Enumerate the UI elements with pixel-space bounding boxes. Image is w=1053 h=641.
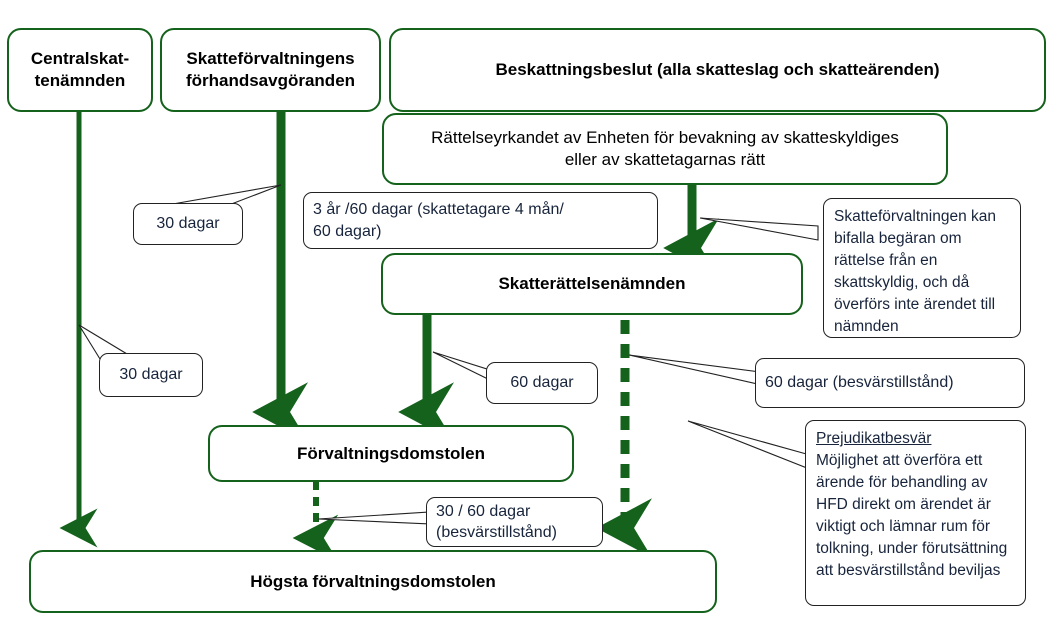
node-rattelseyrkandet[interactable]: Rättelseyrkandet av Enheten för bevaknin… (382, 113, 948, 185)
callout-prejudikatbesvar[interactable]: Prejudikatbesvär Möjlighet att överföra … (805, 420, 1026, 606)
callout-prejudikatbesvar-body: Möjlighet att överföra ett ärende för be… (816, 450, 1015, 582)
callout-dagar-3ar-60[interactable]: 3 år /60 dagar (skattetagare 4 mån/ 60 d… (303, 192, 658, 249)
node-forhandsavgoranden-label: Skatteförvaltningens förhandsavgöranden (186, 48, 355, 92)
callout-dagar-3ar-60-label: 3 år /60 dagar (skattetagare 4 mån/ 60 d… (313, 199, 564, 242)
node-beskattningsbeslut[interactable]: Beskattningsbeslut (alla skatteslag och … (389, 28, 1046, 112)
callout-dagar-30-top[interactable]: 30 dagar (133, 203, 243, 245)
node-beskattningsbeslut-label: Beskattningsbeslut (alla skatteslag och … (495, 59, 939, 81)
callout-dagar-60[interactable]: 60 dagar (486, 362, 598, 404)
callout-dagar-60-label: 60 dagar (510, 372, 573, 393)
diagram-canvas: Centralskat- tenämnden Skatteförvaltning… (0, 0, 1053, 641)
callout-dagar-30-60-besvarstillstand[interactable]: 30 / 60 dagar (besvärstillstånd) (426, 497, 603, 547)
callout-skatteforvaltningen-note[interactable]: Skatteförvaltningen kan bifalla begäran … (823, 198, 1021, 338)
node-centralskattenamnden[interactable]: Centralskat- tenämnden (7, 28, 153, 112)
callout-dagar-60-besvarstillstand-label: 60 dagar (besvärstillstånd) (765, 372, 954, 393)
callout-dagar-30-60-besvarstillstand-label: 30 / 60 dagar (besvärstillstånd) (436, 501, 557, 544)
node-skatterattelsenamnden[interactable]: Skatterättelsenämnden (381, 253, 803, 315)
node-centralskattenamnden-label: Centralskat- tenämnden (31, 48, 129, 92)
node-hogsta-forvaltningsdomstolen-label: Högsta förvaltningsdomstolen (250, 571, 496, 593)
callout-dagar-30-left[interactable]: 30 dagar (99, 353, 203, 397)
callout-dagar-30-left-label: 30 dagar (119, 364, 182, 385)
callout-dagar-30-top-label: 30 dagar (156, 213, 219, 234)
node-forvaltningsdomstolen-label: Förvaltningsdomstolen (297, 443, 485, 465)
node-forvaltningsdomstolen[interactable]: Förvaltningsdomstolen (208, 425, 574, 482)
callout-prejudikatbesvar-heading: Prejudikatbesvär (816, 428, 931, 450)
callout-skatteforvaltningen-note-label: Skatteförvaltningen kan bifalla begäran … (834, 206, 1010, 338)
node-rattelseyrkandet-label: Rättelseyrkandet av Enheten för bevaknin… (431, 127, 899, 171)
callout-dagar-60-besvarstillstand[interactable]: 60 dagar (besvärstillstånd) (755, 358, 1025, 408)
node-skatterattelsenamnden-label: Skatterättelsenämnden (498, 273, 685, 295)
node-hogsta-forvaltningsdomstolen[interactable]: Högsta förvaltningsdomstolen (29, 550, 717, 613)
node-forhandsavgoranden[interactable]: Skatteförvaltningens förhandsavgöranden (160, 28, 381, 112)
